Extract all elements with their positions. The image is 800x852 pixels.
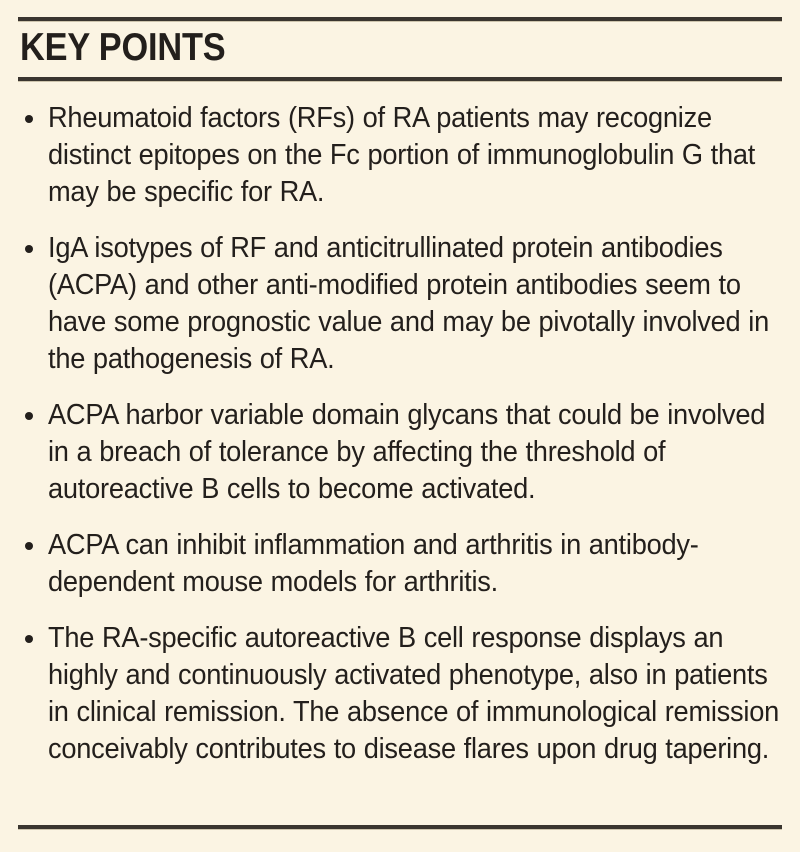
bullet-icon (25, 115, 33, 123)
list-item: Rheumatoid factors (RFs) of RA patients … (18, 100, 786, 211)
key-points-list: Rheumatoid factors (RFs) of RA patients … (18, 100, 786, 768)
divider-under-title (18, 77, 782, 82)
bullet-icon (25, 245, 33, 253)
key-points-panel: KEY POINTS Rheumatoid factors (RFs) of R… (0, 0, 800, 852)
key-point-text: ACPA harbor variable domain glycans that… (48, 397, 784, 508)
bullet-icon (25, 542, 33, 550)
key-point-text: Rheumatoid factors (RFs) of RA patients … (48, 100, 784, 211)
divider-bottom (18, 825, 782, 830)
list-item: The RA-specific autoreactive B cell resp… (18, 620, 786, 768)
list-item: IgA isotypes of RF and anticitrullinated… (18, 230, 786, 378)
page-title: KEY POINTS (20, 26, 225, 70)
list-item: ACPA harbor variable domain glycans that… (18, 397, 786, 508)
bullet-icon (25, 412, 33, 420)
key-point-text: ACPA can inhibit inflammation and arthri… (48, 527, 784, 601)
list-item: ACPA can inhibit inflammation and arthri… (18, 527, 786, 601)
key-point-text: IgA isotypes of RF and anticitrullinated… (48, 230, 784, 378)
divider-top (18, 17, 782, 22)
bullet-icon (25, 635, 33, 643)
key-point-text: The RA-specific autoreactive B cell resp… (48, 620, 784, 768)
